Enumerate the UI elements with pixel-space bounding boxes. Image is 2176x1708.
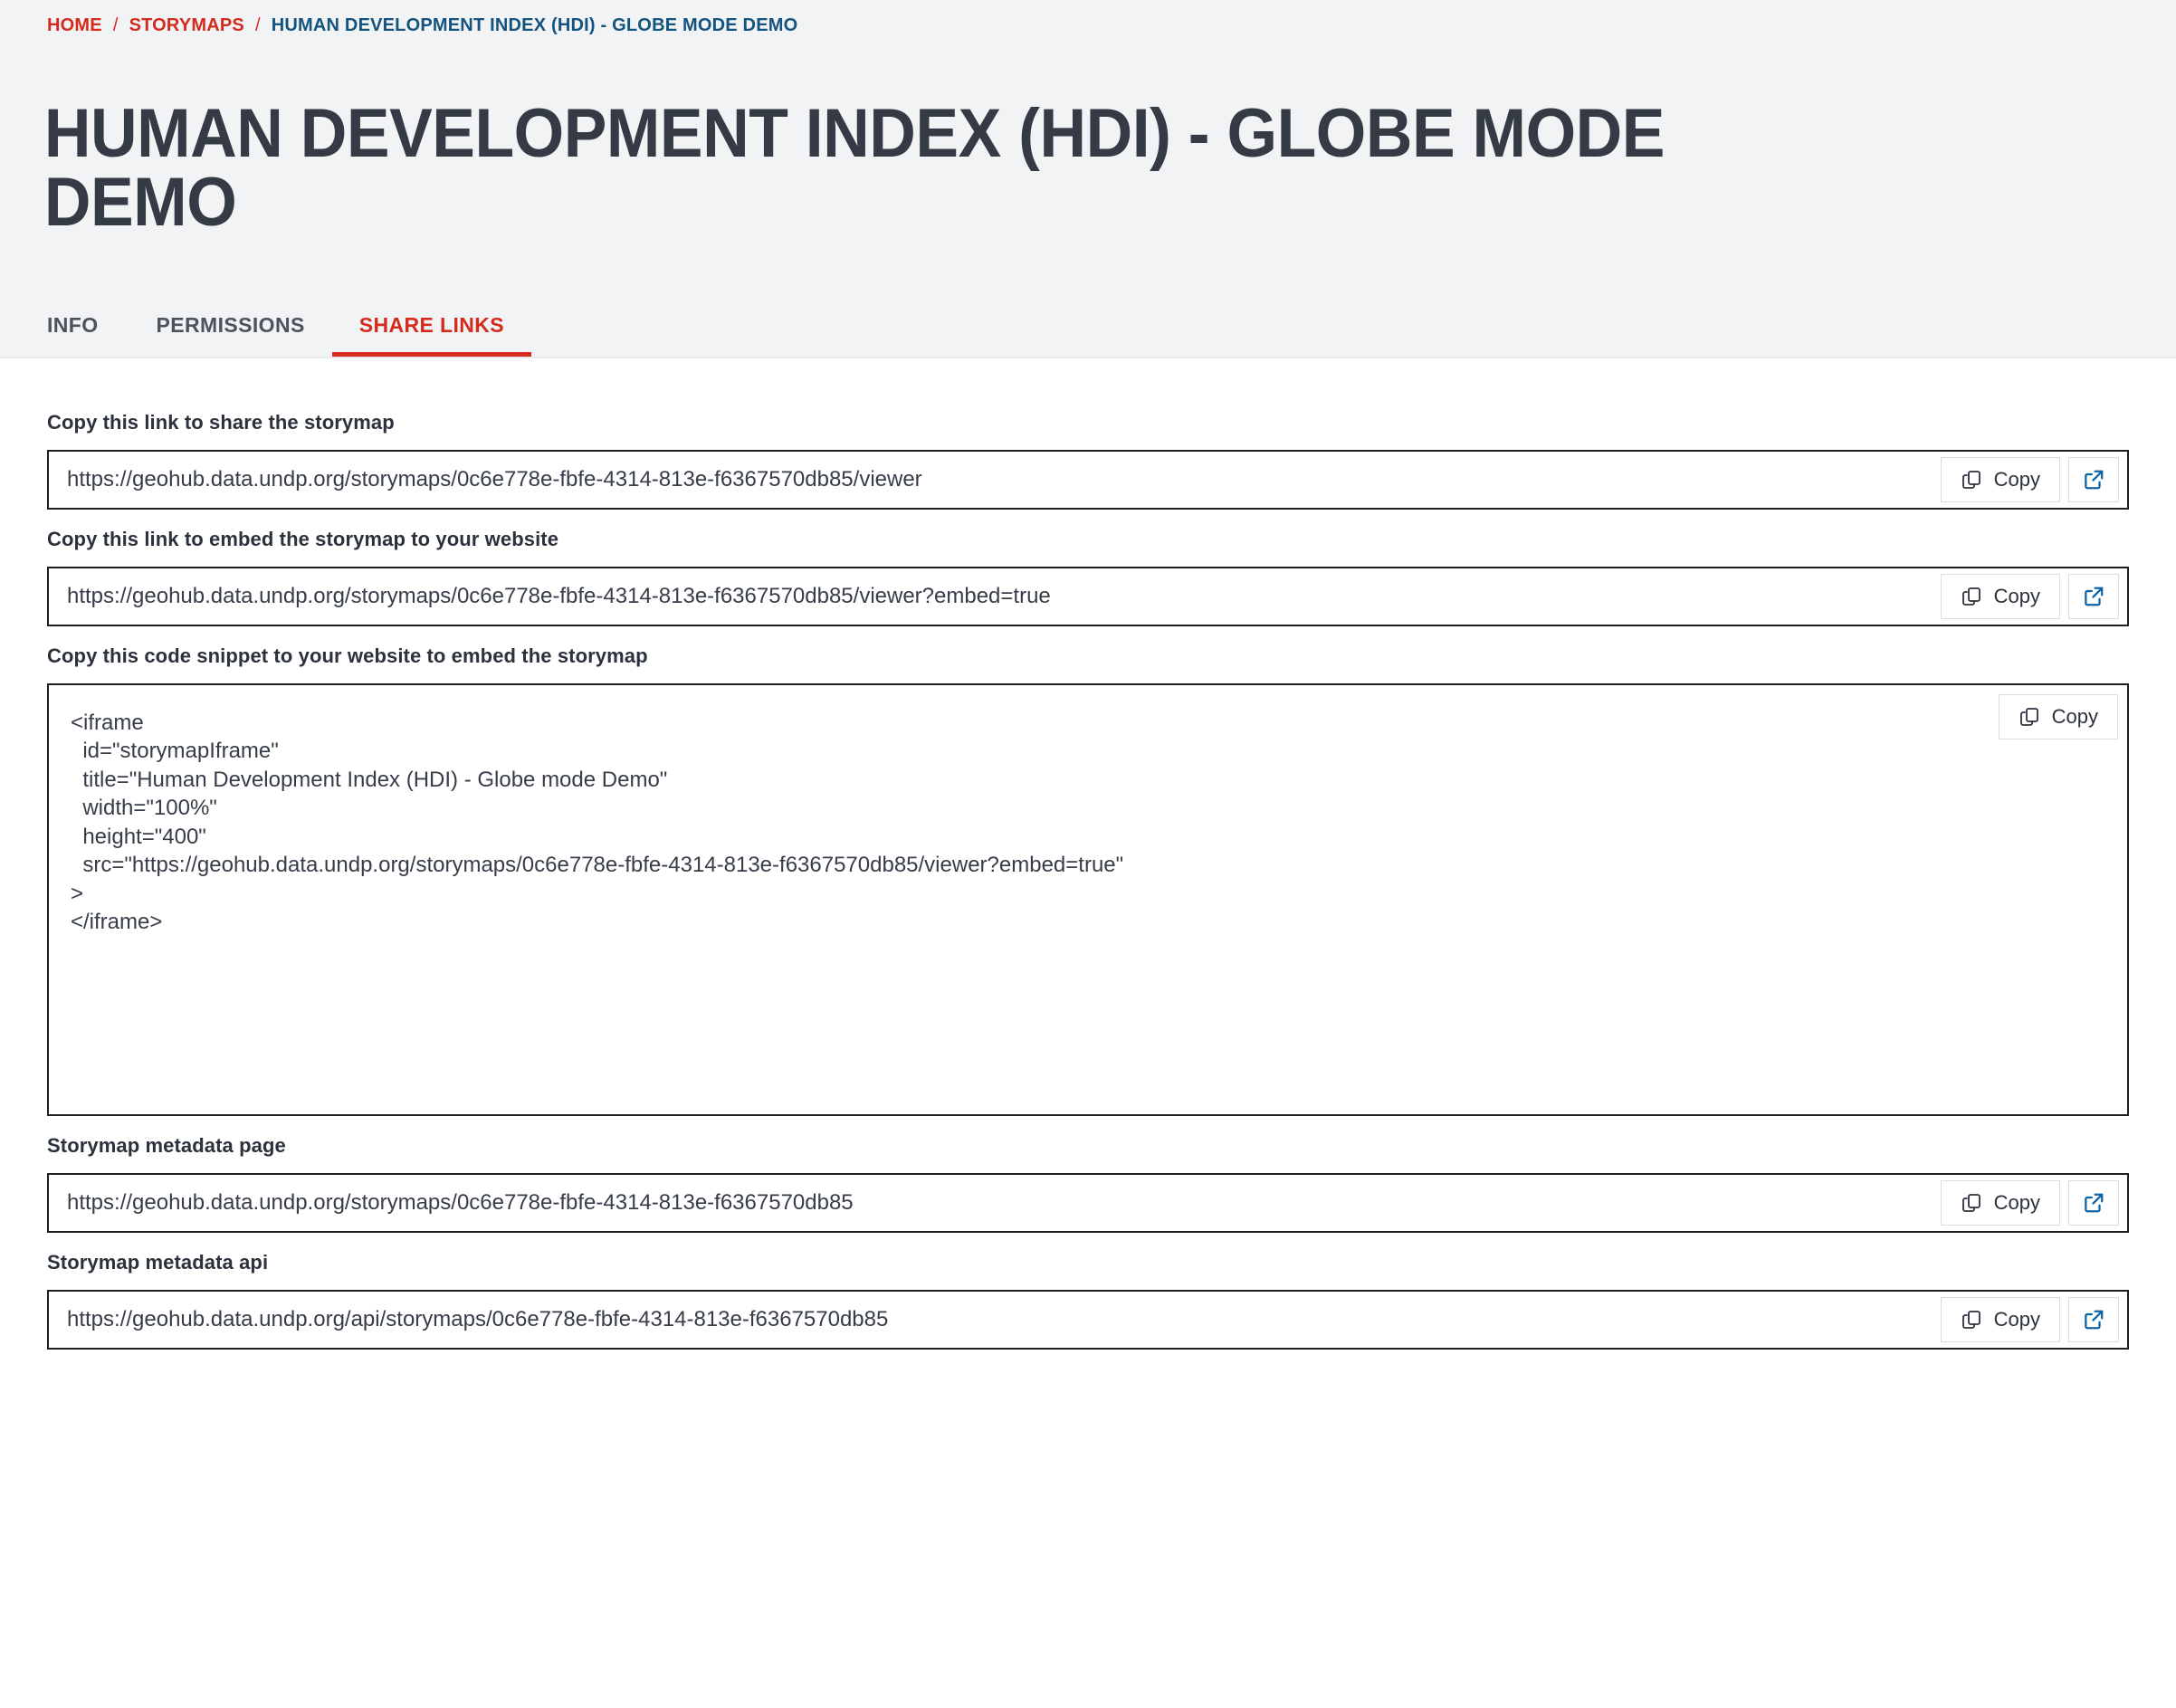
share-links-panel: Copy this link to share the storymap Cop… bbox=[0, 358, 2176, 1404]
metadata-page-input-row: Copy bbox=[47, 1173, 2129, 1233]
tab-share-links[interactable]: SHARE LINKS bbox=[332, 313, 531, 357]
share-link-actions: Copy bbox=[1941, 452, 2127, 508]
field-metadata-page: Storymap metadata page Copy bbox=[47, 1134, 2129, 1233]
external-link-icon bbox=[2082, 468, 2105, 491]
code-snippet-label: Copy this code snippet to your website t… bbox=[47, 644, 2129, 668]
copy-button-label: Copy bbox=[1994, 1308, 2040, 1331]
metadata-page-actions: Copy bbox=[1941, 1175, 2127, 1231]
tab-permissions[interactable]: PERMISSIONS bbox=[129, 313, 332, 357]
share-link-input-row: Copy bbox=[47, 450, 2129, 510]
embed-link-label: Copy this link to embed the storymap to … bbox=[47, 528, 2129, 551]
copy-button-label: Copy bbox=[1994, 585, 2040, 608]
external-link-icon bbox=[2082, 1191, 2105, 1215]
copy-metadata-api-button[interactable]: Copy bbox=[1941, 1297, 2060, 1342]
tab-bar: INFO PERMISSIONS SHARE LINKS bbox=[0, 259, 2176, 357]
page-header: HOME / STORYMAPS / HUMAN DEVELOPMENT IND… bbox=[0, 0, 2176, 358]
metadata-api-actions: Copy bbox=[1941, 1292, 2127, 1348]
field-share-link: Copy this link to share the storymap Cop… bbox=[47, 411, 2129, 510]
breadcrumb-item-home[interactable]: HOME bbox=[47, 15, 102, 36]
field-code-snippet: Copy this code snippet to your website t… bbox=[47, 644, 2129, 1116]
external-link-icon bbox=[2082, 585, 2105, 608]
field-metadata-api: Storymap metadata api Copy bbox=[47, 1251, 2129, 1350]
copy-code-snippet-button[interactable]: Copy bbox=[1999, 694, 2118, 739]
tab-info[interactable]: INFO bbox=[47, 313, 129, 357]
copy-icon bbox=[2019, 706, 2040, 728]
open-metadata-page-button[interactable] bbox=[2068, 1180, 2119, 1226]
open-share-link-button[interactable] bbox=[2068, 457, 2119, 502]
share-link-input[interactable] bbox=[49, 452, 1941, 508]
code-snippet-actions: Copy bbox=[1999, 694, 2118, 739]
metadata-api-input[interactable] bbox=[49, 1292, 1941, 1348]
copy-button-label: Copy bbox=[1994, 468, 2040, 491]
field-embed-link: Copy this link to embed the storymap to … bbox=[47, 528, 2129, 626]
embed-link-input[interactable] bbox=[49, 568, 1941, 625]
copy-icon bbox=[1961, 469, 1982, 491]
code-snippet-text[interactable]: <iframe id="storymapIframe" title="Human… bbox=[71, 709, 2105, 937]
share-link-label: Copy this link to share the storymap bbox=[47, 411, 2129, 434]
embed-link-actions: Copy bbox=[1941, 568, 2127, 625]
open-embed-link-button[interactable] bbox=[2068, 574, 2119, 619]
code-snippet-box: <iframe id="storymapIframe" title="Human… bbox=[47, 683, 2129, 1116]
breadcrumb-separator: / bbox=[113, 15, 119, 36]
page-title: HUMAN DEVELOPMENT INDEX (HDI) - GLOBE MO… bbox=[0, 36, 1787, 237]
embed-link-input-row: Copy bbox=[47, 567, 2129, 626]
breadcrumb-separator: / bbox=[255, 15, 261, 36]
open-metadata-api-button[interactable] bbox=[2068, 1297, 2119, 1342]
copy-embed-link-button[interactable]: Copy bbox=[1941, 574, 2060, 619]
copy-icon bbox=[1961, 586, 1982, 607]
metadata-api-input-row: Copy bbox=[47, 1290, 2129, 1350]
metadata-page-input[interactable] bbox=[49, 1175, 1941, 1231]
copy-metadata-page-button[interactable]: Copy bbox=[1941, 1180, 2060, 1226]
breadcrumb-item-current: HUMAN DEVELOPMENT INDEX (HDI) - GLOBE MO… bbox=[272, 15, 798, 36]
copy-share-link-button[interactable]: Copy bbox=[1941, 457, 2060, 502]
breadcrumb-item-storymaps[interactable]: STORYMAPS bbox=[129, 15, 244, 36]
metadata-page-label: Storymap metadata page bbox=[47, 1134, 2129, 1158]
copy-button-label: Copy bbox=[1994, 1191, 2040, 1215]
copy-button-label: Copy bbox=[2052, 705, 2098, 729]
breadcrumb: HOME / STORYMAPS / HUMAN DEVELOPMENT IND… bbox=[0, 0, 2176, 36]
external-link-icon bbox=[2082, 1308, 2105, 1331]
metadata-api-label: Storymap metadata api bbox=[47, 1251, 2129, 1274]
copy-icon bbox=[1961, 1192, 1982, 1214]
copy-icon bbox=[1961, 1309, 1982, 1331]
